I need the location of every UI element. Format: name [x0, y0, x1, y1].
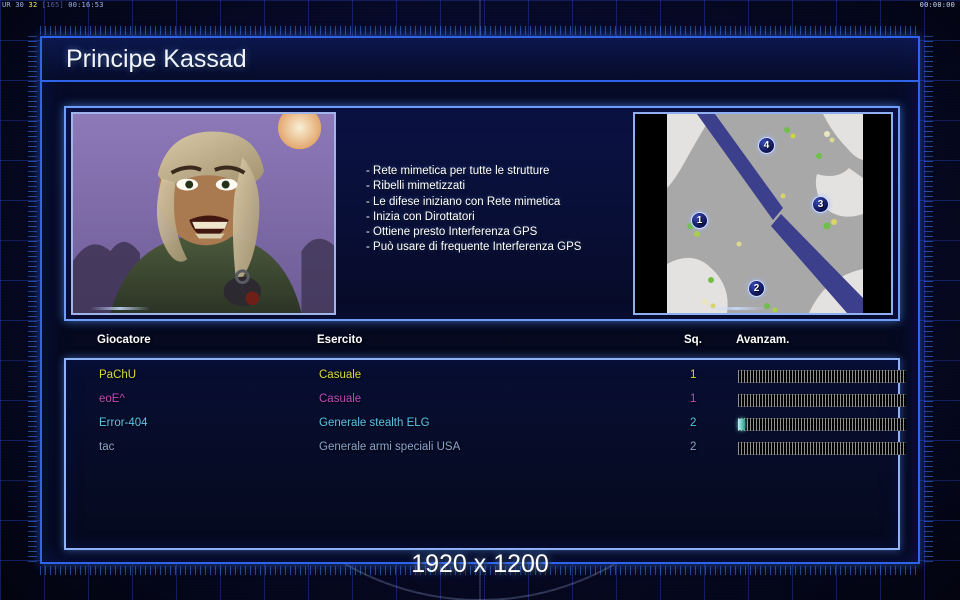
player-army[interactable]: Casuale	[319, 393, 361, 405]
panel-accent-mark	[90, 307, 150, 310]
status-value-b: 32	[29, 1, 38, 9]
player-table-header: Giocatore Esercito Sq. Avanzam.	[64, 334, 900, 356]
status-prefix: UR	[2, 1, 11, 9]
column-header-player: Giocatore	[97, 334, 151, 346]
player-name: Error-404	[99, 417, 148, 429]
player-army[interactable]: Generale armi speciali USA	[319, 441, 460, 453]
status-right-timer: 00:00:00	[920, 0, 955, 11]
ruler-left	[28, 36, 37, 564]
bullet-item: - Le difese iniziano con Rete mimetica	[366, 195, 666, 210]
general-info-panel: - Rete mimetica per tutte le strutture -…	[64, 106, 900, 321]
status-clock: 00:16:53	[68, 1, 103, 9]
status-bracket: [165]	[42, 1, 64, 9]
table-row[interactable]: tac Generale armi speciali USA 2	[66, 438, 898, 462]
player-progress-bar	[738, 370, 906, 383]
column-header-squad: Sq.	[684, 334, 702, 346]
general-bullet-list: - Rete mimetica per tutte le strutture -…	[366, 164, 666, 256]
player-name: tac	[99, 441, 114, 453]
status-bar: UR 30 32 [165] 00:16:53 00:00:00	[0, 0, 960, 11]
map-preview[interactable]: 1 2 3 4	[633, 112, 893, 315]
table-row[interactable]: eoE^ Casuale 1	[66, 390, 898, 414]
general-portrait	[71, 112, 336, 315]
column-header-army: Esercito	[317, 334, 362, 346]
player-name: PaChU	[99, 369, 136, 381]
ruler-right	[924, 36, 933, 564]
main-frame: Principe Kassad	[40, 36, 920, 564]
bullet-item: - Rete mimetica per tutte le strutture	[366, 164, 666, 179]
player-squad[interactable]: 1	[690, 369, 696, 381]
bullet-item: - Può usare di frequente Interferenza GP…	[366, 240, 666, 255]
map-start-position[interactable]: 4	[758, 137, 775, 154]
column-header-progress: Avanzam.	[736, 334, 789, 346]
ruler-top	[40, 26, 920, 35]
player-name: eoE^	[99, 393, 125, 405]
player-progress-bar	[738, 394, 906, 407]
table-row[interactable]: Error-404 Generale stealth ELG 2	[66, 414, 898, 438]
player-table-body: PaChU Casuale 1 eoE^ Casuale 1 Error-404…	[64, 358, 900, 550]
table-row[interactable]: PaChU Casuale 1	[66, 366, 898, 390]
bullet-item: - Ottiene presto Interferenza GPS	[366, 225, 666, 240]
player-progress-bar	[738, 418, 906, 431]
map-start-position[interactable]: 2	[748, 280, 765, 297]
player-progress-bar	[738, 442, 906, 455]
page-title: Principe Kassad	[66, 45, 247, 74]
player-squad[interactable]: 2	[690, 417, 696, 429]
player-army[interactable]: Generale stealth ELG	[319, 417, 430, 429]
status-bar-left: UR 30 32 [165] 00:16:53	[2, 0, 104, 11]
bullet-item: - Inizia con Dirottatori	[366, 210, 666, 225]
resolution-label: 1920 x 1200	[0, 550, 960, 579]
player-army[interactable]: Casuale	[319, 369, 361, 381]
player-squad[interactable]: 1	[690, 393, 696, 405]
map-start-position[interactable]: 3	[812, 196, 829, 213]
player-squad[interactable]: 2	[690, 441, 696, 453]
panel-accent-mark	[706, 307, 766, 310]
map-start-position[interactable]: 1	[691, 212, 708, 229]
bullet-item: - Ribelli mimetizzati	[366, 179, 666, 194]
status-value-a: 30	[15, 1, 24, 9]
title-bar: Principe Kassad	[42, 38, 918, 82]
